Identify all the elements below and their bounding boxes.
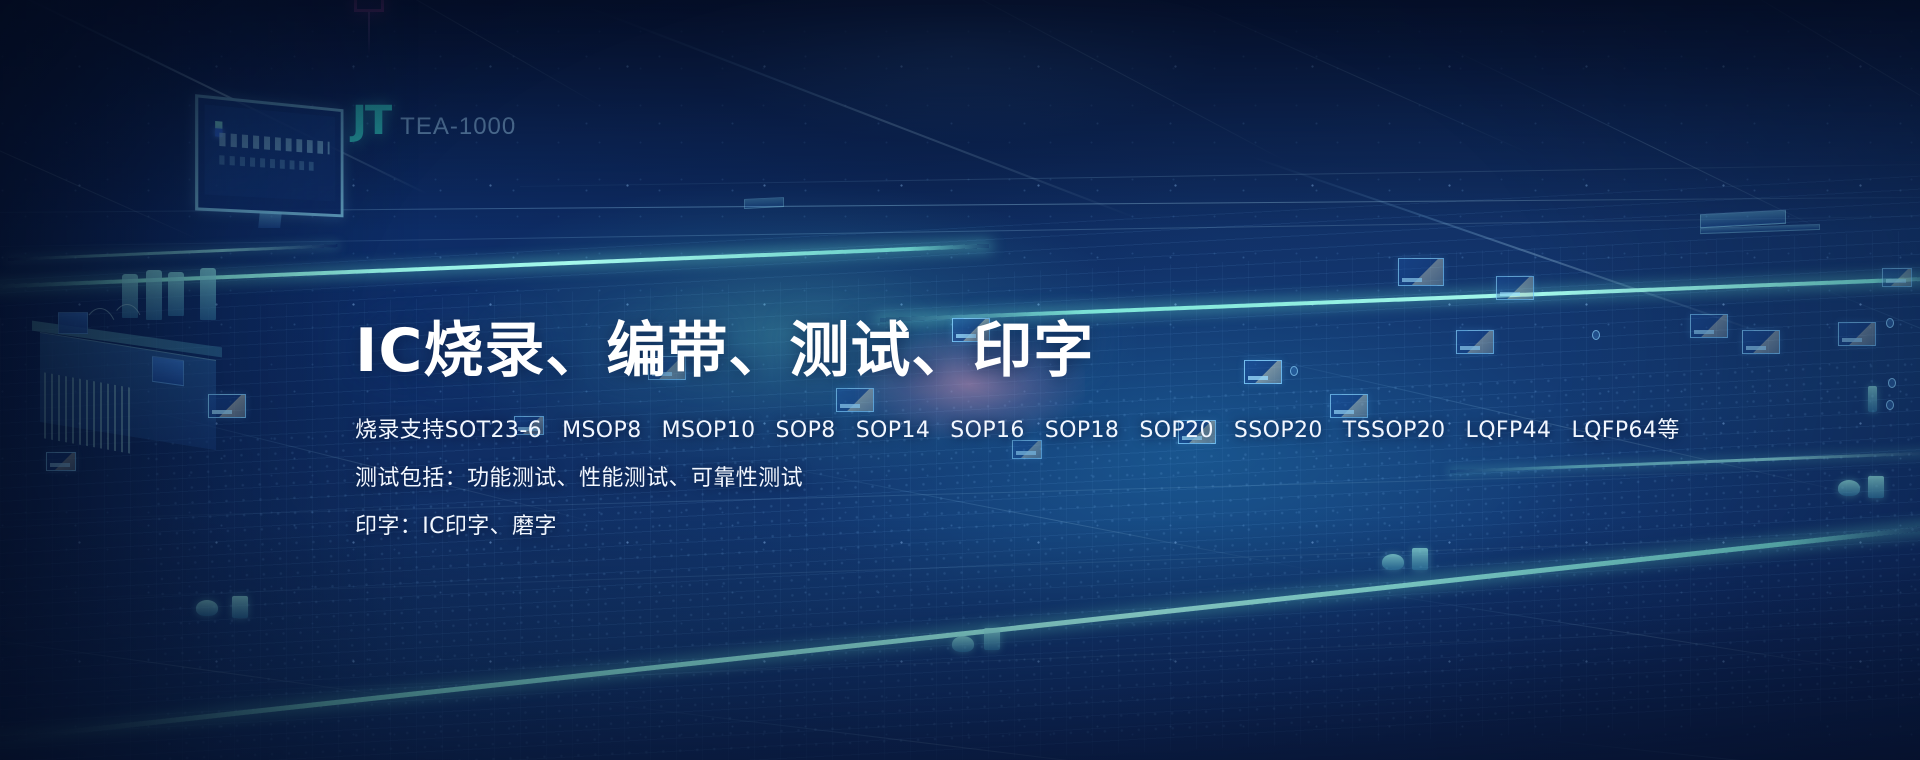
chip-tray-icon [1838,322,1876,346]
chip-tray-icon [1882,268,1912,287]
machine-cylinder [122,274,138,318]
machine-block [152,356,184,386]
light-streak [1150,0,1534,156]
conveyor-pad-icon [1382,554,1404,570]
chip-tray-icon [1690,314,1728,338]
screen-chip-row [219,155,314,171]
top-shade [0,0,1920,230]
package-option: SOP14 [856,418,931,443]
ic-handler-machine [18,268,233,448]
ceiling-fixture [744,197,784,209]
sensor-bar-icon [1868,386,1877,412]
package-option: SOP8 [776,418,836,443]
light-streak [293,0,605,109]
pink-marker-icon [354,0,384,12]
room-line [0,216,1920,247]
light-streak [0,0,428,195]
package-option: MSOP10 [662,418,756,443]
light-streak [0,625,443,704]
sensor-dot-icon [1888,378,1896,388]
package-option: MSOP8 [562,418,642,443]
machine-base [40,332,216,450]
brand-mark: JT [352,98,390,144]
page-title: IC烧录、编带、测试、印字 [355,318,1655,384]
light-streak [1674,0,1920,143]
machine-fins [44,372,130,453]
test-scope-line: 测试包括：功能测试、性能测试、可靠性测试 [355,468,1655,490]
conveyor-beam-lower [0,524,1920,745]
machine-cylinder [200,268,216,320]
chip-tray-icon [46,452,76,471]
chip-tray-icon [1398,258,1444,286]
package-option: SOP18 [1045,418,1120,443]
conveyor-pad-icon [1412,548,1428,570]
light-streak [1341,587,1894,676]
package-option: LQFP44 [1466,418,1552,443]
sensor-dot-icon [1886,400,1894,410]
marking-scope-line: 印字：IC印字、磨字 [355,516,1655,538]
light-streak [579,3,1140,220]
conveyor-pad-icon [232,596,248,618]
machine-cylinder [146,270,162,320]
light-streak [1436,41,1832,235]
banner-subtitles: 烧录支持SOT23-6MSOP8MSOP10SOP8SOP14SOP16SOP1… [355,420,1655,538]
equipment-model-label: TEA-1000 [400,113,516,141]
light-streak [1531,738,1920,760]
room-line [0,197,1920,213]
screen-chip-row [219,133,329,155]
bottom-shade [0,520,1920,760]
package-option: LQFP64等 [1571,418,1679,443]
room-line [520,164,1920,187]
conveyor-beam-faint-left [8,244,338,261]
light-streak [1817,286,1920,407]
machine-wire [110,304,144,332]
conveyor-pad-icon [952,636,974,652]
ceiling-fixture [1700,210,1786,229]
machine-block [58,312,88,334]
light-streak [579,700,1214,760]
banner-content: IC烧录、编带、测试、印字 烧录支持SOT23-6MSOP8MSOP10SOP8… [355,318,1655,538]
ic-service-hero-banner: JT TEA-1000 IC烧录、编带、测试、印字 烧录支持SOT23-6MSO [0,0,1920,760]
pink-marker-stem [368,12,370,54]
chip-tray-icon [1496,276,1534,300]
equipment-logo: JT TEA-1000 [352,98,516,144]
light-streak [1245,154,1775,338]
sensor-dot-icon [1886,318,1894,328]
machine-cylinder [168,272,184,316]
package-option: SSOP20 [1234,418,1323,443]
machine-wire [82,308,118,338]
monitor-bezel [195,94,343,217]
package-option: SOP20 [1139,418,1214,443]
room-line [0,623,1920,701]
chip-tray-icon [1742,330,1780,354]
monitor-screen [205,105,336,202]
ceiling-fixture [1700,224,1820,234]
light-streak [865,0,1289,163]
burn-support-label: 烧录支持SOT23-6 [355,418,542,443]
conveyor-pad-icon [984,628,1000,650]
chip-tray-icon [208,394,246,418]
conveyor-pad-icon [196,600,218,616]
room-line [0,533,1920,601]
light-streak [0,69,201,241]
screen-indicator-icon [215,121,222,129]
machine-rail [32,321,222,358]
workstation-monitor [197,102,347,214]
conveyor-pad-icon [1868,476,1884,498]
top-glow [700,0,1220,141]
conveyor-beam-upper [0,244,989,290]
burn-support-line: 烧录支持SOT23-6MSOP8MSOP10SOP8SOP14SOP16SOP1… [355,420,1655,442]
conveyor-pad-icon [1838,480,1860,496]
monitor-stand [258,212,282,228]
screen-indicator-icon [215,128,222,137]
package-option: SOP16 [950,418,1025,443]
package-option: TSSOP20 [1343,418,1446,443]
